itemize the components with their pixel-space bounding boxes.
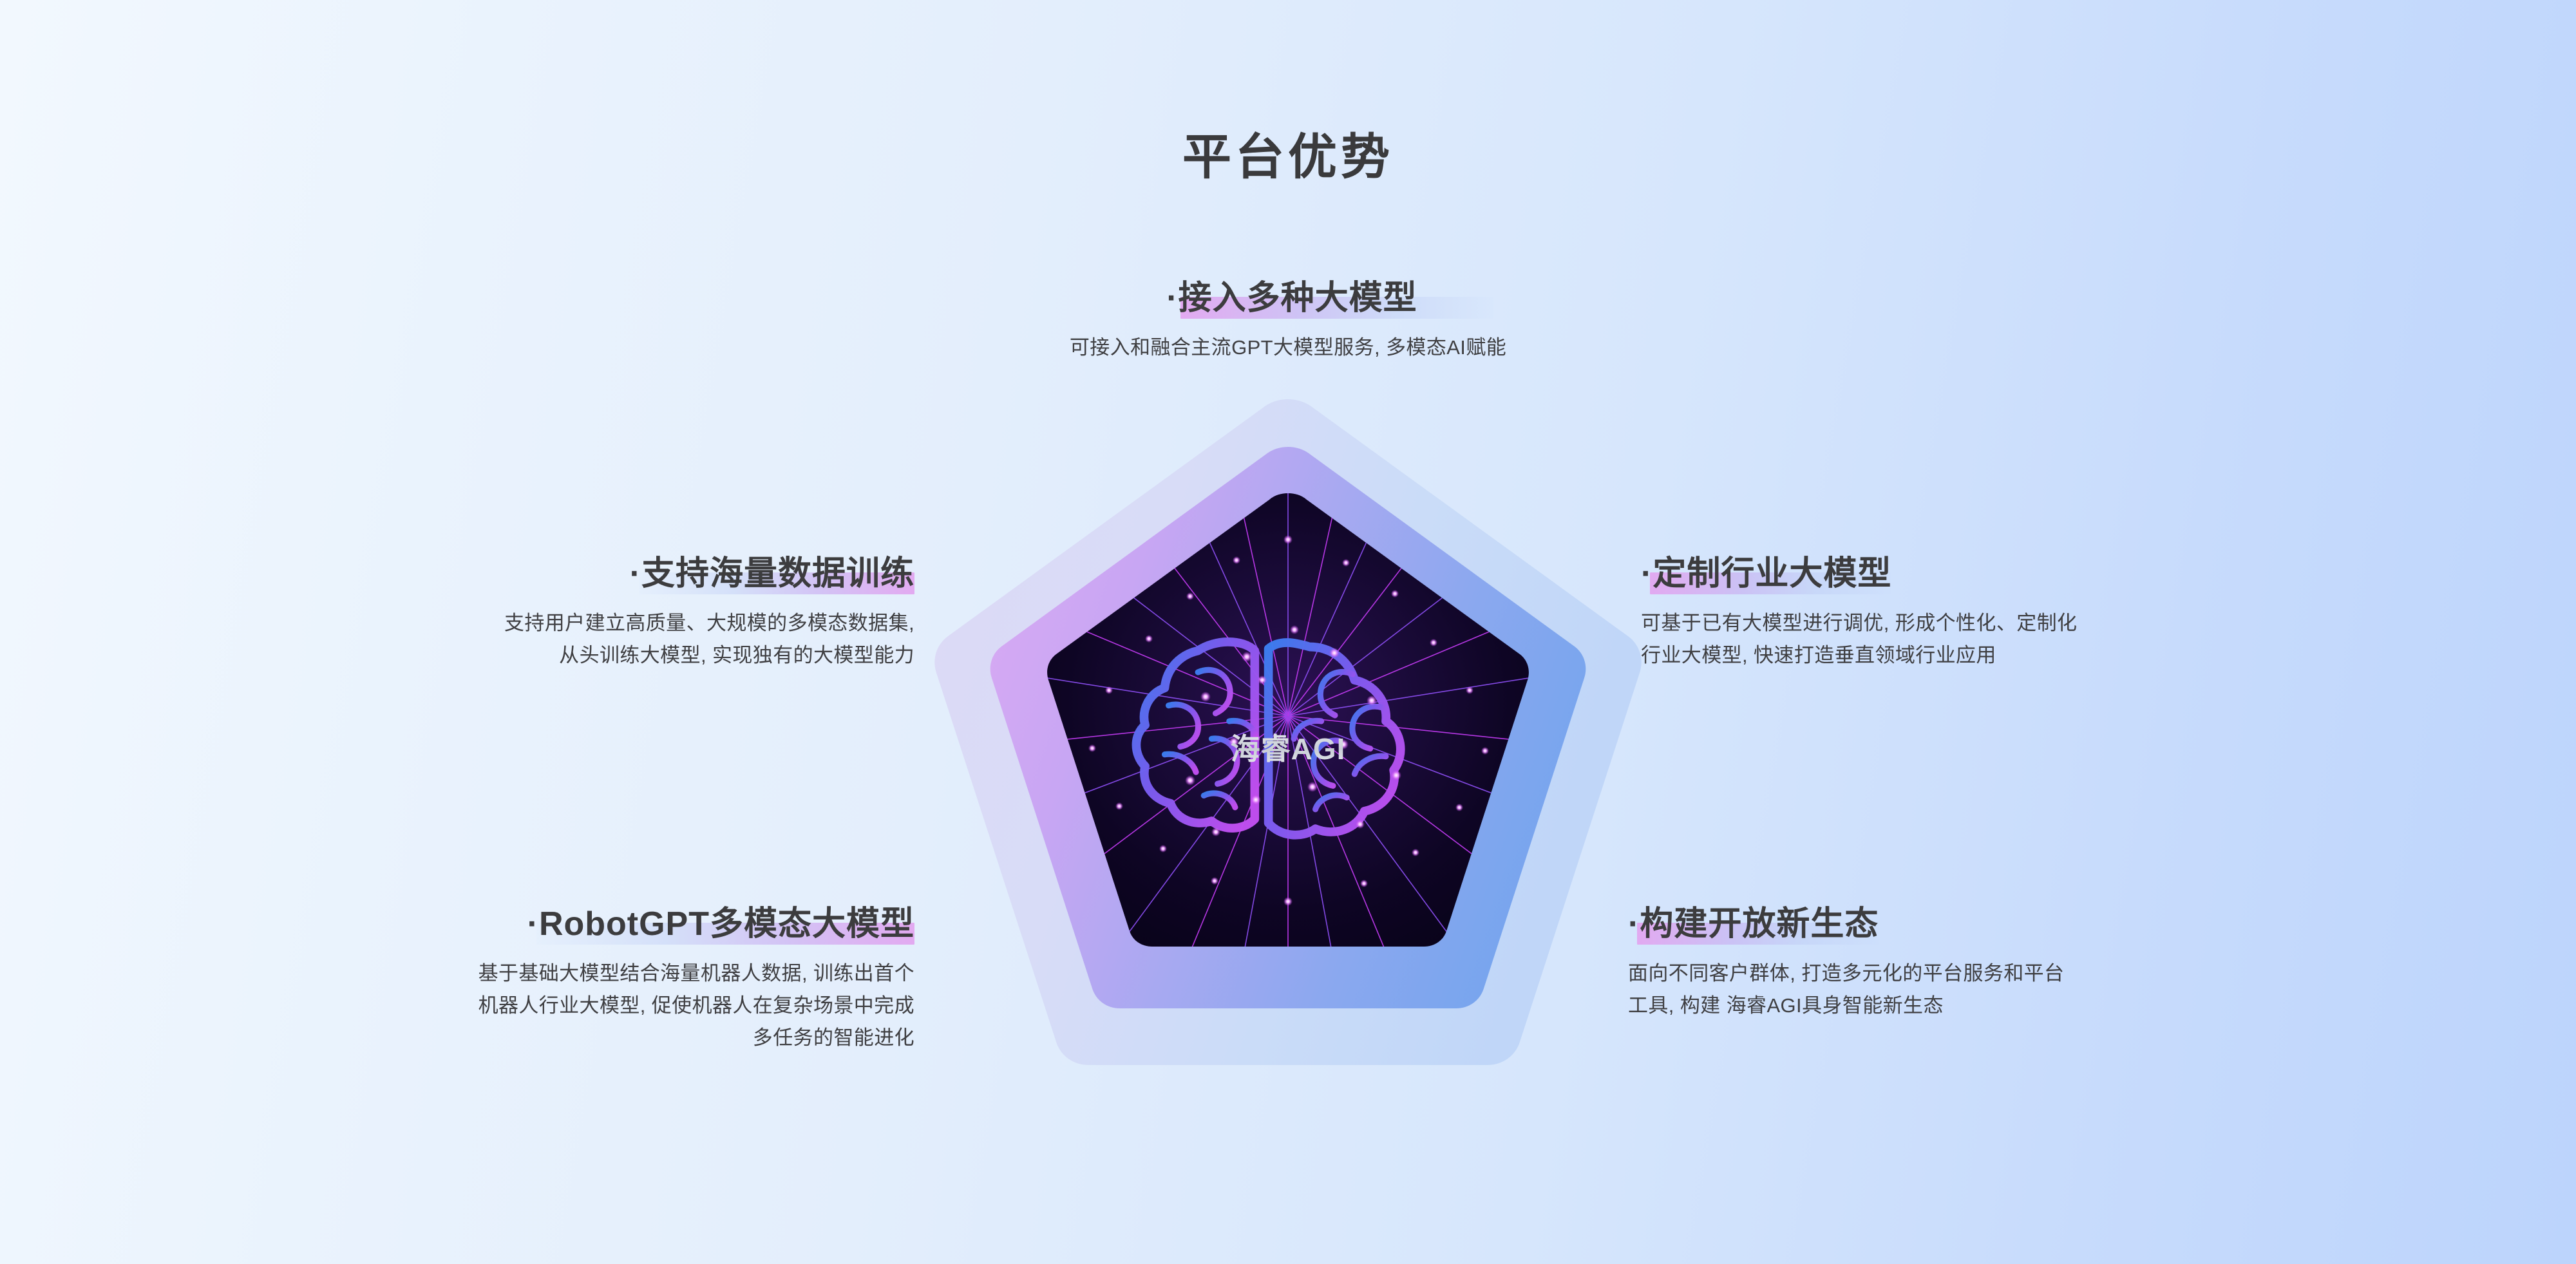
feature-right-bottom-heading-text: 构建开放新生态 — [1640, 905, 1879, 943]
feature-right-bottom-heading: ·构建开放新生态 — [1628, 896, 1879, 947]
feature-right-bottom-description: 面向不同客户群体, 打造多元化的平台服务和平台 工具, 构建 海睿AGI具身智能… — [1628, 957, 2427, 1022]
feature-left-top-bullet: · — [630, 555, 641, 592]
feature-block-right-top: ·定制行业大模型 可基于已有大模型进行调优, 形成个性化、定制化 行业大模型, … — [1641, 546, 2414, 672]
feature-block-left-top: ·支持海量数据训练 支持用户建立高质量、大规模的多模态数据集, 从头训练大模型,… — [167, 546, 914, 672]
feature-block-right-bottom: ·构建开放新生态 面向不同客户群体, 打造多元化的平台服务和平台 工具, 构建 … — [1628, 896, 2427, 1022]
central-pentagon-graphic: 海睿AGI — [927, 386, 1649, 1114]
feature-left-top-heading: ·支持海量数据训练 — [630, 546, 914, 597]
feature-left-top-description: 支持用户建立高质量、大规模的多模态数据集, 从头训练大模型, 实现独有的大模型能… — [167, 607, 914, 672]
feature-block-left-bottom: ·RobotGPT多模态大模型 基于基础大模型结合海量机器人数据, 训练出首个 … — [142, 896, 914, 1055]
feature-top-heading-text: 接入多种大模型 — [1179, 279, 1417, 317]
feature-block-top: ·接入多种大模型 可接入和融合主流GPT大模型服务, 多模态AI赋能 — [837, 270, 1739, 364]
feature-left-bottom-description: 基于基础大模型结合海量机器人数据, 训练出首个 机器人行业大模型, 促使机器人在… — [142, 957, 914, 1055]
feature-left-bottom-heading-text: RobotGPT多模态大模型 — [539, 905, 914, 943]
center-logo-text: 海睿AGI — [1231, 726, 1346, 768]
feature-top-bullet: · — [1166, 279, 1178, 317]
feature-right-top-description: 可基于已有大模型进行调优, 形成个性化、定制化 行业大模型, 快速打造垂直领域行… — [1641, 607, 2414, 672]
page-title: 平台优势 — [0, 117, 2576, 188]
feature-top-description: 可接入和融合主流GPT大模型服务, 多模态AI赋能 — [837, 332, 1739, 364]
feature-top-heading: ·接入多种大模型 — [1166, 270, 1417, 321]
feature-right-top-heading: ·定制行业大模型 — [1641, 546, 1891, 597]
feature-left-bottom-bullet: · — [527, 905, 539, 943]
feature-right-bottom-bullet: · — [1628, 905, 1640, 943]
feature-right-top-heading-text: 定制行业大模型 — [1653, 555, 1891, 592]
feature-left-bottom-heading: ·RobotGPT多模态大模型 — [527, 896, 914, 947]
feature-left-top-heading-text: 支持海量数据训练 — [641, 555, 914, 592]
feature-right-top-bullet: · — [1641, 555, 1653, 592]
